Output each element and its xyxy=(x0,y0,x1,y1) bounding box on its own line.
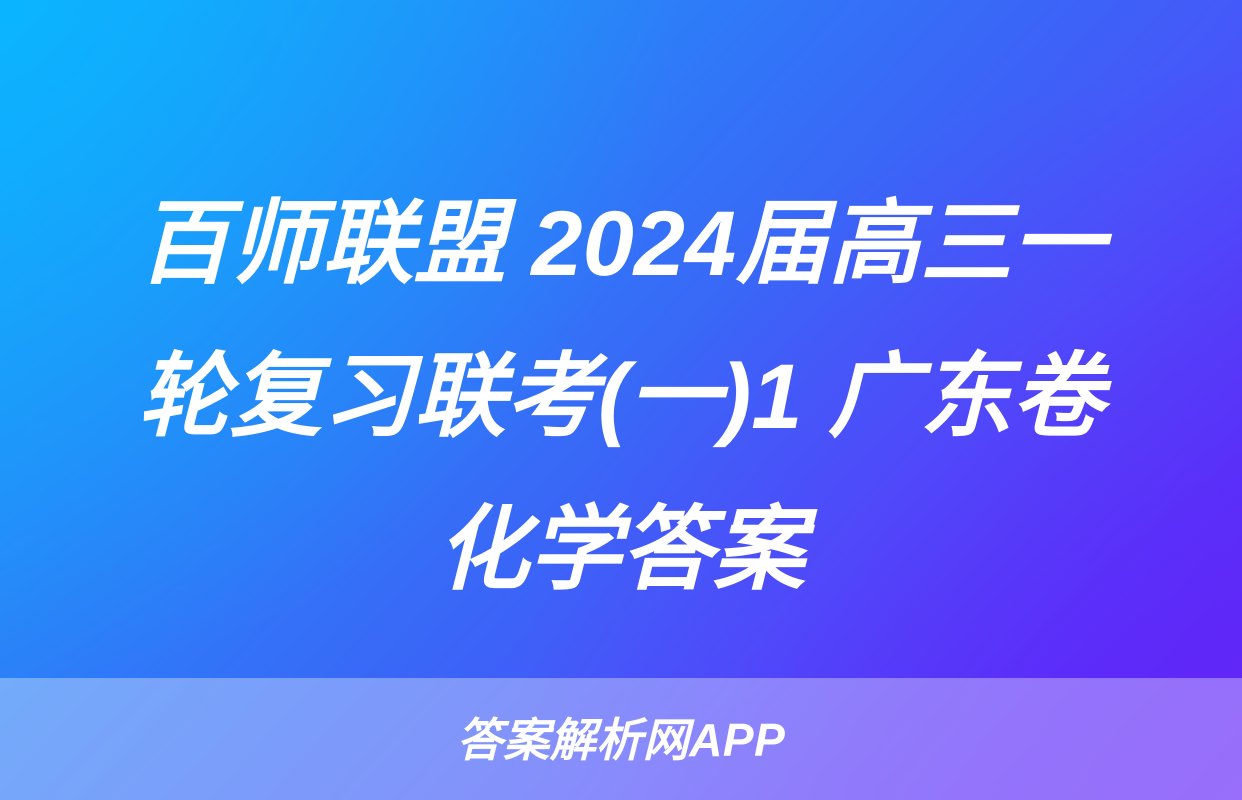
title-line-3: 化学答案 xyxy=(58,474,1184,627)
page-title: 百师联盟 2024届高三一 轮复习联考(一)1 广东卷 化学答案 xyxy=(0,168,1242,627)
poster-canvas: 百师联盟 2024届高三一 轮复习联考(一)1 广东卷 化学答案 答案解析网AP… xyxy=(0,0,1242,800)
footer-watermark-band: 答案解析网APP xyxy=(0,678,1242,800)
title-line-1: 百师联盟 2024届高三一 xyxy=(58,168,1184,321)
watermark-label: 答案解析网APP xyxy=(457,717,786,763)
title-line-2: 轮复习联考(一)1 广东卷 xyxy=(58,321,1184,474)
